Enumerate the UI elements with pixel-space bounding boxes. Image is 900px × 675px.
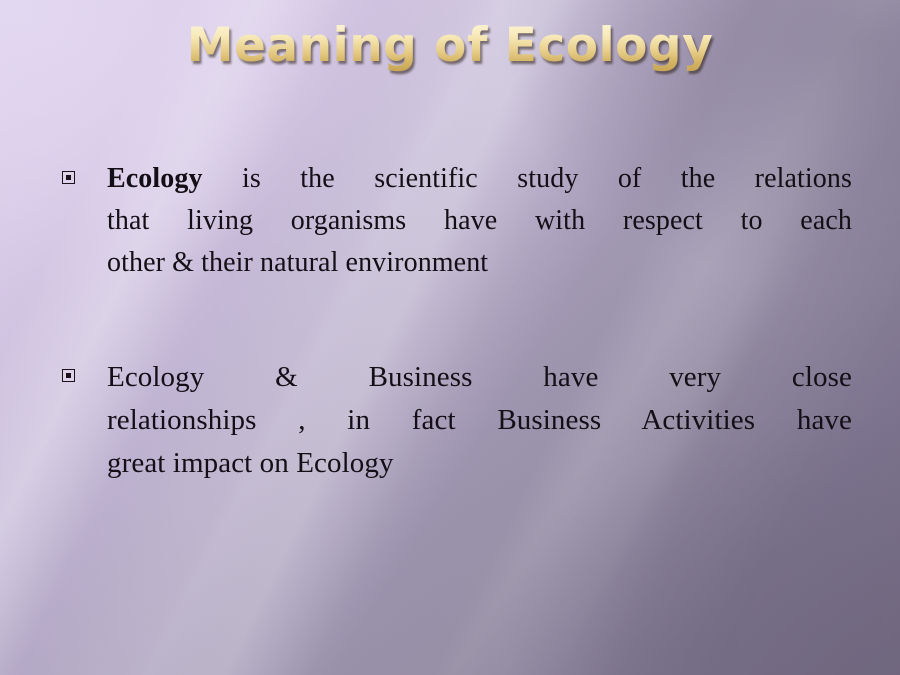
bullet-1-lead-bold: Ecology [107,163,203,194]
list-item: Ecology & Business have very close relat… [62,356,852,485]
presentation-slide: Meaning of Ecology Ecology is the scient… [0,0,900,675]
bullet-1-line-2: that living organisms have with respect … [107,200,852,242]
bullet-paragraph-1: Ecology is the scientific study of the r… [107,158,852,284]
bullet-list: Ecology is the scientific study of the r… [62,158,852,485]
square-bullet-icon [62,171,75,184]
bullet-1-line-1: Ecology is the scientific study of the r… [107,158,852,200]
slide-title: Meaning of Ecology [0,19,900,73]
bullet-1-line-3: other & their natural environment [107,242,852,284]
bullet-1-line-1-rest: is the scientific study of the relations [203,163,852,194]
bullet-paragraph-2: Ecology & Business have very close relat… [107,356,852,485]
bullet-2-line-1: Ecology & Business have very close [107,356,852,399]
bullet-2-line-2: relationships , in fact Business Activit… [107,399,852,442]
square-bullet-icon [62,369,75,382]
list-item: Ecology is the scientific study of the r… [62,158,852,284]
bullet-2-line-3: great impact on Ecology [107,442,852,485]
slide-content: Meaning of Ecology Ecology is the scient… [0,0,900,675]
